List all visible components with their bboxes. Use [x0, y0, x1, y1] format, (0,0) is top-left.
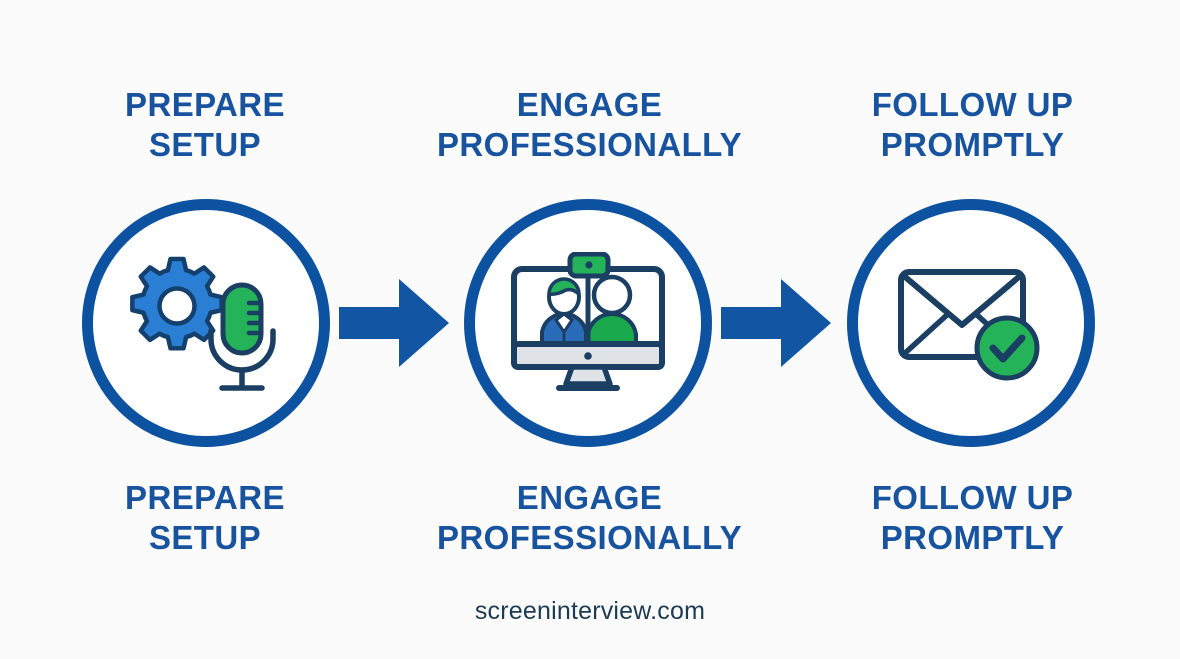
- check-circle-icon: [977, 318, 1037, 378]
- step-1-circle: [82, 199, 330, 447]
- connector-arrow-2: [721, 267, 833, 379]
- envelope-with-check-icon: [896, 262, 1046, 384]
- footer-website-text: screeninterview.com: [0, 597, 1180, 626]
- right-arrow-icon: [721, 267, 833, 379]
- step-3-top-label: FOLLOW UP PROMPTLY: [820, 85, 1125, 165]
- step-2-icon-group: [475, 210, 701, 436]
- step-3-icon-group: [858, 210, 1084, 436]
- step-2-circle: [464, 199, 712, 447]
- video-call-monitor-icon: [504, 252, 672, 394]
- gear-and-microphone-icon: [118, 247, 294, 399]
- step-1-bottom-label: PREPARE SETUP: [55, 478, 355, 558]
- connector-arrow-1: [339, 267, 451, 379]
- step-2-bottom-label: ENGAGE PROFESSIONALLY: [437, 478, 742, 558]
- step-3-circle: [847, 199, 1095, 447]
- right-arrow-icon: [339, 267, 451, 379]
- step-1-icon-group: [93, 210, 319, 436]
- step-1-top-label: PREPARE SETUP: [55, 85, 355, 165]
- infographic-canvas: PREPARE SETUP ENGAGE PROFESSIONALLY FOLL…: [0, 0, 1180, 659]
- step-2-top-label: ENGAGE PROFESSIONALLY: [437, 85, 742, 165]
- step-3-bottom-label: FOLLOW UP PROMPTLY: [820, 478, 1125, 558]
